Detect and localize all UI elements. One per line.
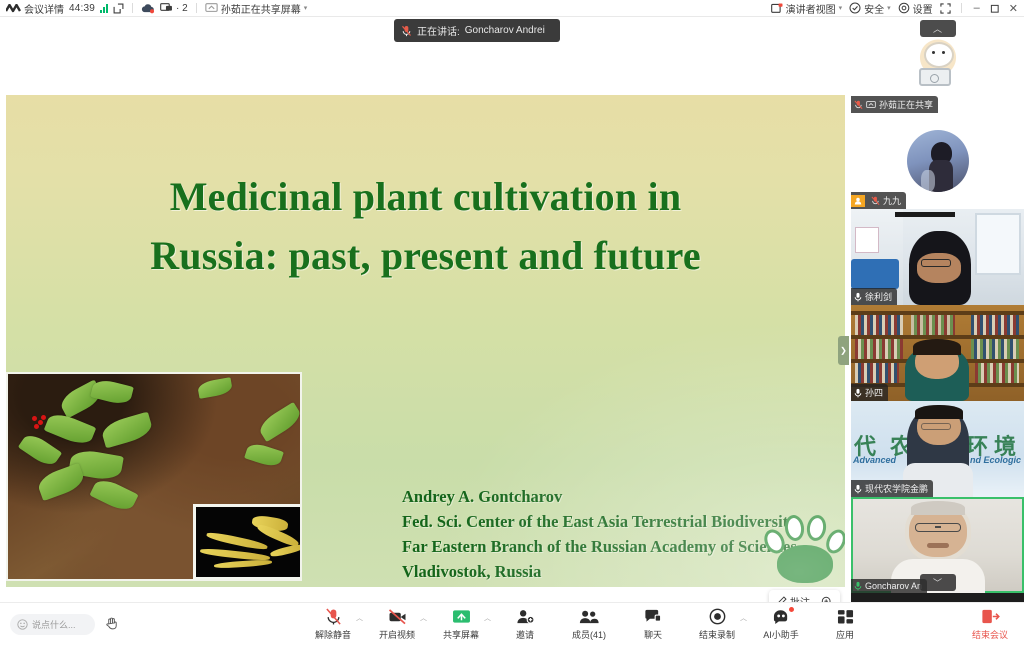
participant-tile[interactable]: 孙茹正在共享 ︿: [851, 17, 1024, 113]
start-video-button[interactable]: 开启视频 ︿: [374, 607, 420, 641]
slide-title: Medicinal plant cultivation in Russia: p…: [6, 173, 845, 279]
screen-share-icon: [866, 101, 876, 109]
participant-tile[interactable]: 代农 态环境 Advanced nd Ecologic 现代农学院金鹏: [851, 401, 1024, 497]
mic-muted-icon: [401, 25, 412, 37]
mic-icon: [854, 484, 862, 494]
participants-button[interactable]: 成员(41): [566, 607, 612, 641]
ginseng-roots-inset: [193, 504, 302, 580]
share-screen-label: 共享屏幕: [443, 628, 479, 641]
chevron-up-icon[interactable]: ︿: [420, 613, 427, 623]
divider: [961, 3, 962, 13]
mic-muted-icon: [854, 100, 863, 110]
settings-button[interactable]: 设置: [898, 1, 933, 16]
maximize-icon[interactable]: [989, 3, 1000, 14]
start-video-label: 开启视频: [379, 628, 415, 641]
slide-title-line1: Medicinal plant cultivation in: [170, 174, 682, 219]
participant-video-strip: 孙茹正在共享 ︿ 九九: [851, 17, 1024, 602]
participant-tile[interactable]: 孙四: [851, 305, 1024, 401]
view-mode-label: 演讲者视图: [786, 1, 836, 16]
meeting-window: 会议详情 44:39 · 2 孙茹正在共享屏幕: [0, 0, 1024, 645]
participant-nametag: 现代农学院金鹏: [851, 480, 933, 497]
gear-icon: [898, 2, 910, 14]
meeting-details-button[interactable]: 会议详情: [6, 1, 64, 16]
chevron-up-icon[interactable]: ︿: [484, 613, 491, 623]
speaking-label: 正在讲话:: [417, 23, 460, 38]
chevron-up-icon: ︿: [933, 22, 942, 35]
meeting-logo-icon: [6, 4, 21, 13]
person-add-icon: [516, 607, 535, 626]
participant-nametag: 九九: [851, 192, 906, 209]
apps-label: 应用: [836, 628, 854, 641]
cloud-recording-icon[interactable]: [141, 3, 155, 14]
end-meeting-label: 结束会议: [972, 628, 1008, 641]
notification-dot: [788, 606, 795, 613]
chevron-up-icon[interactable]: ︿: [356, 613, 363, 623]
screen-share-icon: [452, 607, 471, 626]
meeting-timer: 44:39: [69, 3, 95, 14]
security-label: 安全: [864, 1, 884, 16]
apps-button[interactable]: 应用: [822, 607, 868, 641]
speaking-name: Goncharov Andrei: [465, 25, 545, 36]
author-name: Andrey A. Gontcharov: [402, 484, 800, 509]
panel-toggle-handle[interactable]: ❯: [838, 336, 849, 365]
screens-icon: [160, 3, 173, 13]
stop-recording-label: 结束录制: [699, 628, 735, 641]
quick-chat-placeholder: 说点什么...: [32, 618, 76, 631]
fullscreen-icon[interactable]: [940, 3, 951, 14]
annotation-toolbar: 批注: [769, 590, 840, 602]
participant-nametag: Goncharov An: [851, 579, 927, 593]
mic-muted-icon: [325, 607, 342, 626]
ginseng-plant-photo: [6, 372, 302, 581]
exit-door-icon: [981, 607, 1000, 626]
participant-name: 现代农学院金鹏: [865, 482, 928, 495]
institute-paw-logo: [763, 505, 845, 587]
divider: [132, 3, 133, 13]
participant-tile-active-speaker[interactable]: Goncharov An ﹀: [851, 497, 1024, 593]
avatar: [907, 34, 969, 96]
chevron-down-icon: ▾: [839, 4, 843, 12]
participant-name: 孙四: [865, 386, 883, 399]
participant-nametag: 孙茹正在共享: [851, 96, 938, 113]
mic-icon: [854, 388, 862, 398]
slide-author-block: Andrey A. Gontcharov Fed. Sci. Center of…: [402, 484, 800, 584]
end-meeting-button[interactable]: 结束会议: [964, 607, 1016, 641]
smiley-icon: [17, 619, 28, 630]
strip-scroll-up-button[interactable]: ︿: [920, 20, 956, 37]
shared-screen-stage: 正在讲话: Goncharov Andrei Medicinal plant c…: [0, 17, 851, 602]
stop-recording-button[interactable]: 结束录制 ︿: [694, 607, 740, 641]
main-controls: 解除静音 ︿ 开启视频 ︿ 共享屏幕 ︿: [310, 607, 868, 641]
quick-chat-input[interactable]: 说点什么...: [10, 614, 95, 635]
annotate-label: 批注: [790, 594, 810, 602]
minimize-icon[interactable]: –: [972, 2, 982, 14]
signal-bars-icon[interactable]: [100, 4, 108, 13]
ai-assistant-icon: [772, 607, 791, 626]
affiliation-line-2: Far Eastern Branch of the Russian Academ…: [402, 534, 800, 559]
sharing-status-label: 孙茹正在共享屏幕: [221, 1, 301, 16]
view-mode-button[interactable]: 演讲者视图 ▾: [771, 1, 843, 16]
security-button[interactable]: 安全 ▾: [849, 1, 891, 16]
speaker-view-icon: [771, 3, 783, 14]
chevron-down-icon: ▾: [887, 4, 891, 12]
raise-hand-icon: [105, 616, 119, 633]
mic-icon: [854, 581, 862, 591]
camera-off-icon: [388, 607, 407, 626]
active-speaker-banner: 正在讲话: Goncharov Andrei: [394, 19, 560, 42]
apps-grid-icon: [837, 607, 854, 626]
ai-assistant-label: AI小助手: [763, 628, 799, 641]
invite-label: 邀请: [516, 628, 534, 641]
participant-nametag: 徐利剑: [851, 288, 897, 305]
host-badge: [851, 195, 865, 207]
participant-tile[interactable]: 九九: [851, 113, 1024, 209]
chat-button[interactable]: 聊天: [630, 607, 676, 641]
meeting-details-label: 会议详情: [24, 1, 64, 16]
participant-name: Goncharov An: [865, 581, 922, 591]
shield-check-icon: [849, 2, 861, 14]
share-screen-button[interactable]: 共享屏幕 ︿: [438, 607, 484, 641]
top-toolbar: 会议详情 44:39 · 2 孙茹正在共享屏幕: [0, 0, 1024, 17]
chevron-right-icon: ❯: [840, 346, 847, 355]
screens-count-label: · 2: [176, 3, 188, 14]
raise-hand-button[interactable]: [101, 614, 123, 635]
strip-scroll-down-button[interactable]: ﹀: [920, 574, 956, 591]
annotate-button[interactable]: 批注: [772, 592, 814, 602]
mic-icon: [854, 292, 862, 302]
avatar: [907, 130, 969, 192]
settings-label: 设置: [913, 1, 933, 16]
zoom-button[interactable]: [817, 594, 837, 603]
chevron-down-icon: ﹀: [933, 576, 942, 589]
affiliation-line-1: Fed. Sci. Center of the East Asia Terres…: [402, 509, 800, 534]
mic-muted-icon: [871, 196, 880, 206]
chevron-up-icon[interactable]: ︿: [740, 613, 747, 623]
affiliation-line-3: Vladivostok, Russia: [402, 559, 800, 584]
presentation-slide: Medicinal plant cultivation in Russia: p…: [6, 95, 845, 587]
participants-label: 成员(41): [572, 628, 606, 641]
screen-share-icon: [205, 3, 218, 13]
participant-tile[interactable]: 徐利剑: [851, 209, 1024, 305]
chat-bubble-icon: [644, 607, 662, 626]
people-icon: [579, 607, 599, 626]
sharing-status-button[interactable]: 孙茹正在共享屏幕 ▾: [205, 1, 308, 16]
unmute-button[interactable]: 解除静音 ︿: [310, 607, 356, 641]
participant-nametag: 孙四: [851, 384, 888, 401]
chat-label: 聊天: [644, 628, 662, 641]
open-in-new-icon[interactable]: [113, 3, 124, 14]
participant-name: 徐利剑: [865, 290, 892, 303]
slide-title-line2: Russia: past, present and future: [6, 232, 845, 279]
ai-assistant-button[interactable]: AI小助手: [758, 607, 804, 641]
invite-button[interactable]: 邀请: [502, 607, 548, 641]
bottom-toolbar: 说点什么... 解除静音 ︿ 开启视频 ︿: [0, 602, 1024, 645]
record-icon: [709, 607, 726, 626]
participant-name: 孙茹正在共享: [879, 98, 933, 111]
screens-count-button[interactable]: · 2: [160, 3, 188, 14]
close-icon[interactable]: ✕: [1007, 2, 1020, 15]
chevron-down-icon: ▾: [304, 4, 308, 12]
unmute-label: 解除静音: [315, 628, 351, 641]
participant-name: 九九: [883, 194, 901, 207]
divider: [196, 3, 197, 13]
